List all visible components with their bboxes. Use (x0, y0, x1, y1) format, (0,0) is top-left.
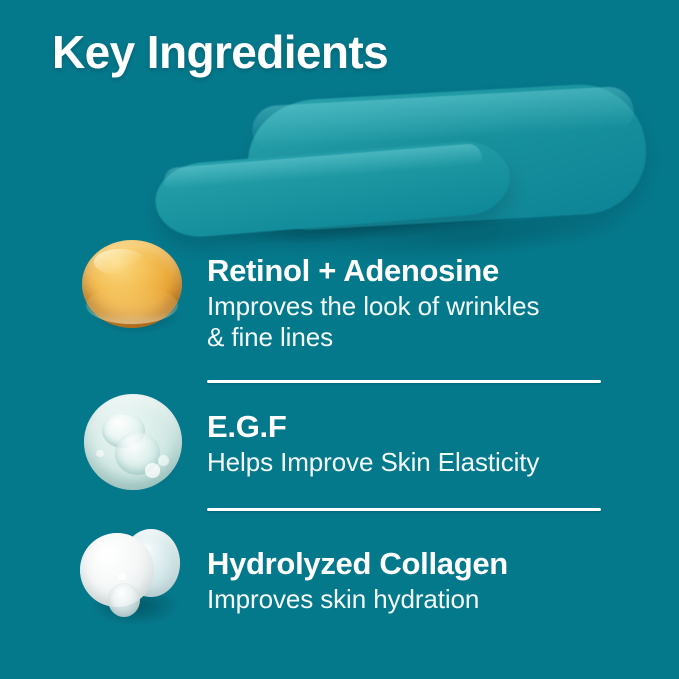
droplet-highlight (96, 548, 124, 564)
divider-after-egf (207, 508, 601, 511)
amber-gel-droplet-icon (78, 236, 188, 346)
clear-gel-droplet-icon (78, 527, 188, 637)
ingredient-name: Hydrolyzed Collagen (207, 547, 627, 582)
ingredient-name: E.G.F (207, 410, 627, 445)
ingredients-infographic: Key Ingredients Retinol + Adenosine Impr… (0, 0, 679, 679)
droplet-body-bottom (108, 583, 140, 617)
ingredient-copy: Retinol + Adenosine Improves the look of… (207, 254, 627, 353)
ingredient-copy: E.G.F Helps Improve Skin Elasticity (207, 410, 627, 478)
bubble-small-c (96, 450, 104, 458)
bubble-small (118, 573, 125, 580)
droplet-highlight (94, 249, 146, 275)
ingredient-description-line-1: Improves skin hydration (207, 584, 627, 615)
mint-gel-droplet-icon (78, 392, 188, 502)
droplet-rim (86, 286, 178, 325)
ingredient-description-line-1: Helps Improve Skin Elasticity (207, 447, 627, 478)
ingredient-name: Retinol + Adenosine (207, 254, 627, 289)
bubble-small-b (158, 455, 169, 466)
ingredients-list: Retinol + Adenosine Improves the look of… (0, 0, 679, 679)
ingredient-description-line-1: Improves the look of wrinkles (207, 291, 627, 322)
ingredient-description-line-2: & fine lines (207, 322, 627, 353)
droplet-body (84, 394, 182, 490)
ingredient-copy: Hydrolyzed Collagen Improves skin hydrat… (207, 547, 627, 615)
divider-after-retinol (207, 380, 601, 383)
bubble-small-a (145, 463, 161, 477)
droplet-body (82, 240, 182, 328)
